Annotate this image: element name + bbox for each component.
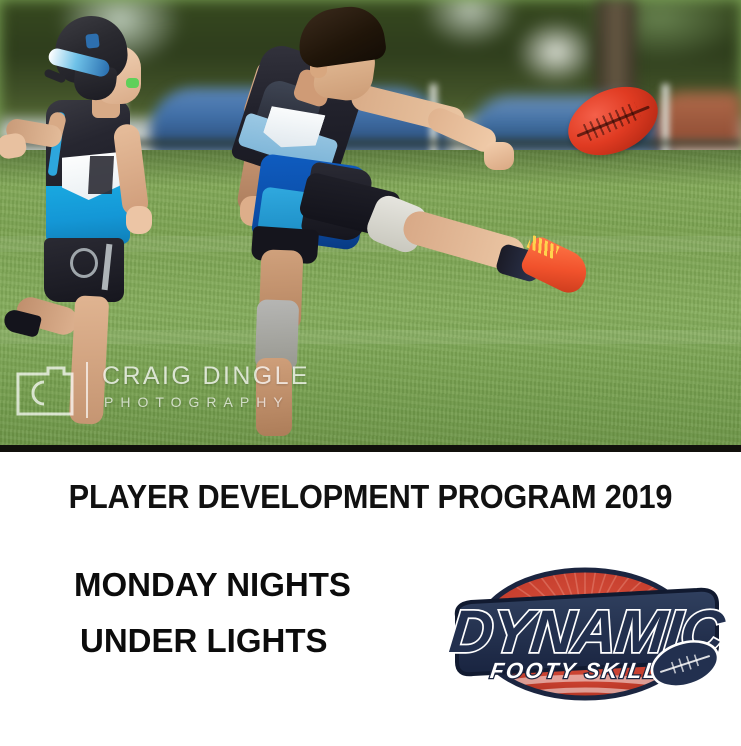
watermark-subtitle: PHOTOGRAPHY [104,394,290,410]
watermark-name: CRAIG DINGLE [102,362,310,391]
camera-icon [14,364,76,418]
page-title: PLAYER DEVELOPMENT PROGRAM 2019 [26,478,715,516]
logo-tagline-text: FOOTY SKILLS [489,658,679,683]
poster: CRAIG DINGLE PHOTOGRAPHY PLAYER DEVELOPM… [0,0,741,746]
schedule-line-2: UNDER LIGHTS [80,622,328,660]
player-left-headgear-badge [85,33,99,48]
hero-photo: CRAIG DINGLE PHOTOGRAPHY [0,0,741,445]
player-left-hand-front [126,206,152,234]
schedule-line-1: MONDAY NIGHTS [74,566,351,604]
player-right-fist [484,142,514,170]
player-left-mouthguard [126,78,139,88]
player-left-shorts-logo [70,248,98,278]
player-right-hair [295,2,388,69]
watermark-divider [86,362,88,418]
section-divider [0,445,741,452]
player-left-jumper-number [88,156,114,194]
dynamic-footy-skills-logo: DYNAMIC FOOTY SKILLS [449,560,734,710]
photographer-watermark: CRAIG DINGLE PHOTOGRAPHY [14,358,304,428]
